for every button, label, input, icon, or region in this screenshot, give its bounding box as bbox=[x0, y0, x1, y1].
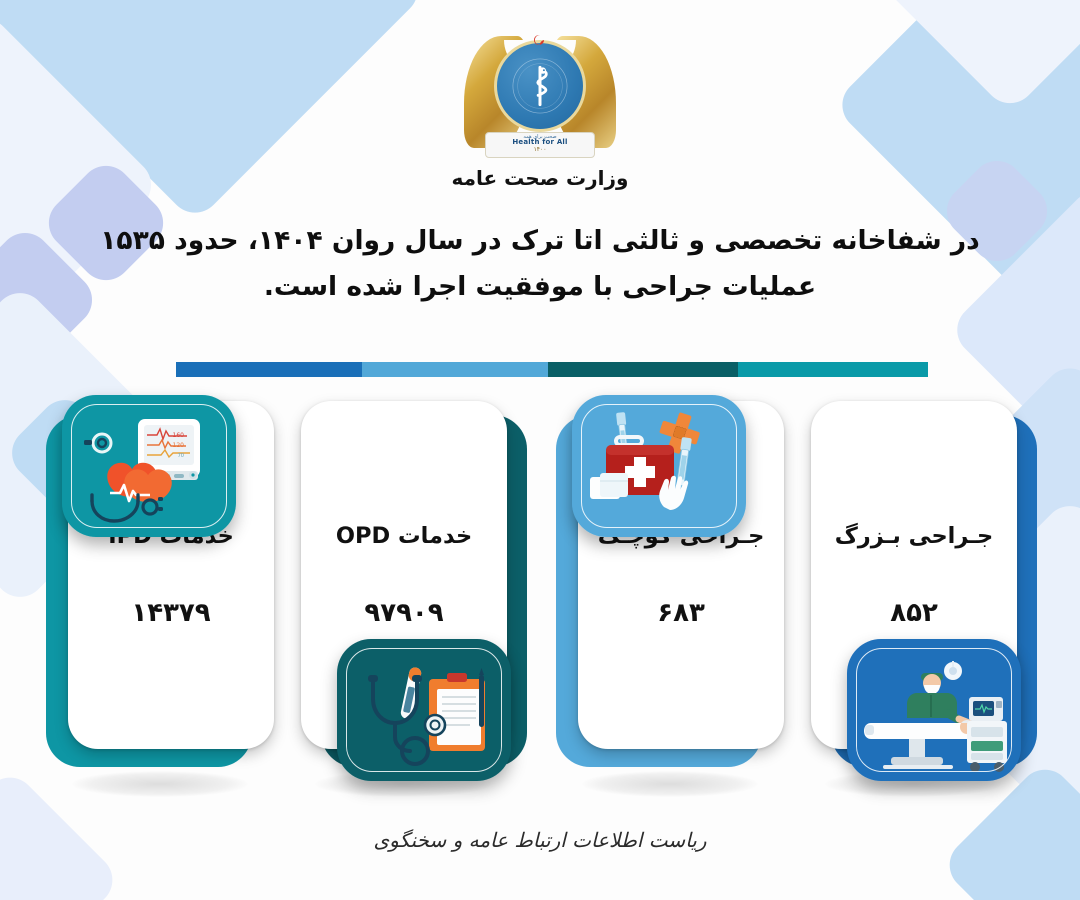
red-crescent-icon bbox=[532, 32, 548, 48]
headline-line-2: عملیات جراحی با موفقیت اجرا شده است. bbox=[95, 264, 985, 310]
first-aid-kit-icon bbox=[572, 395, 746, 537]
stat-card-ipd-services[interactable]: خدمات IPD ۱۴۳۷۹ 160 120 70 bbox=[38, 393, 280, 783]
ministry-name: وزارت صحت عامه bbox=[452, 166, 629, 190]
svg-text:70: 70 bbox=[178, 453, 184, 459]
card-shadow bbox=[72, 771, 248, 797]
rod-of-asclepius-icon bbox=[512, 58, 568, 114]
divider-segment-4 bbox=[176, 362, 362, 377]
emblem-disc bbox=[494, 40, 586, 132]
headline: در شفاخانه تخصصی و ثالثی اتا ترک در سال … bbox=[95, 218, 985, 309]
svg-text:160: 160 bbox=[173, 432, 185, 439]
headline-line-1: در شفاخانه تخصصی و ثالثی اتا ترک در سال … bbox=[95, 218, 985, 264]
card-title: جـراحی بـزرگ bbox=[835, 522, 994, 551]
stat-card-minor-surgery[interactable]: جـراحی کوچـک ۶۸۳ bbox=[548, 393, 790, 783]
stat-card-major-surgery[interactable]: جـراحی بـزرگ ۸۵۲ bbox=[803, 393, 1045, 783]
card-shadow bbox=[582, 771, 758, 797]
divider-bar bbox=[176, 362, 928, 377]
svg-text:120: 120 bbox=[173, 442, 185, 449]
stat-card-opd-services[interactable]: خدمات OPD ۹۷۹۰۹ bbox=[293, 393, 535, 783]
ministry-emblem-icon: صحت برای همه Health for All ۱۴۰۰ bbox=[460, 22, 620, 162]
divider-segment-1 bbox=[738, 362, 928, 377]
footer-credit: ریاست اطلاعات ارتباط عامه و سخنگوی bbox=[0, 828, 1080, 852]
divider-segment-2 bbox=[548, 362, 738, 377]
stethoscope-clipboard-icon bbox=[337, 639, 511, 781]
card-value: ۶۸۳ bbox=[657, 598, 705, 628]
stat-cards: خدمات IPD ۱۴۳۷۹ 160 120 70 bbox=[0, 393, 1080, 793]
divider-segment-3 bbox=[362, 362, 548, 377]
header-logo: صحت برای همه Health for All ۱۴۰۰ وزارت ص… bbox=[0, 22, 1080, 190]
patient-monitor-heart-icon: 160 120 70 bbox=[62, 395, 236, 537]
operating-theater-icon bbox=[847, 639, 1021, 781]
banner-fa-text: صحت برای همه bbox=[523, 134, 556, 140]
banner-year-text: ۱۴۰۰ bbox=[534, 146, 547, 153]
card-value: ۱۴۳۷۹ bbox=[131, 598, 210, 628]
card-title: خدمات OPD bbox=[336, 522, 472, 551]
health-for-all-banner: صحت برای همه Health for All ۱۴۰۰ bbox=[485, 132, 595, 158]
card-value: ۹۷۹۰۹ bbox=[364, 598, 443, 628]
infographic-page: صحت برای همه Health for All ۱۴۰۰ وزارت ص… bbox=[0, 0, 1080, 900]
card-value: ۸۵۲ bbox=[890, 598, 938, 628]
